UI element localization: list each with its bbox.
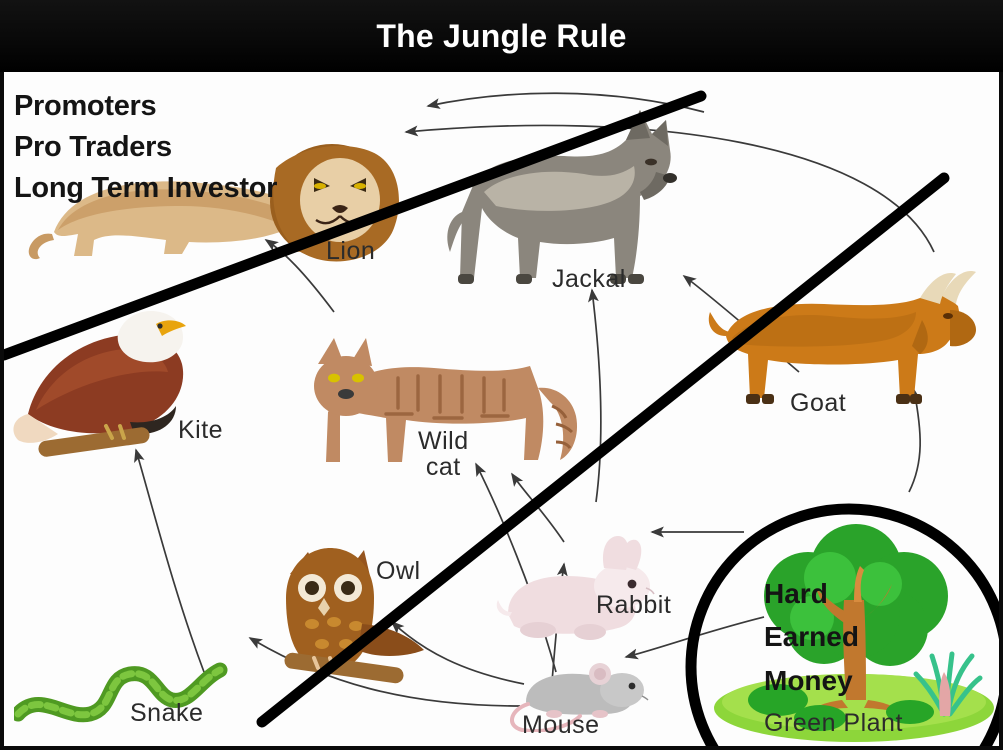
annotation-promoters: Promoters Pro Traders Long Term Investor bbox=[14, 86, 277, 210]
diagram-canvas: Lion Jackal Goat Kite Wild cat Owl Snake… bbox=[4, 72, 999, 746]
slide-root: The Jungle Rule bbox=[0, 0, 1003, 750]
label-green-plant: Green Plant bbox=[764, 710, 903, 736]
label-lion: Lion bbox=[326, 238, 375, 264]
label-jackal: Jackal bbox=[552, 266, 626, 292]
page-title: The Jungle Rule bbox=[376, 18, 626, 55]
label-owl: Owl bbox=[376, 558, 421, 584]
label-mouse: Mouse bbox=[522, 712, 600, 738]
edge-rabbit-jackal bbox=[592, 290, 601, 502]
label-goat: Goat bbox=[790, 390, 846, 416]
label-rabbit: Rabbit bbox=[596, 592, 671, 618]
edge-snake-kite bbox=[136, 450, 204, 672]
title-bar: The Jungle Rule bbox=[0, 0, 1003, 72]
annotation-hard-earned-money: Hard Earned Money bbox=[764, 572, 859, 702]
label-wildcat: Wild cat bbox=[418, 428, 469, 481]
label-kite: Kite bbox=[178, 417, 223, 443]
snake-illustration bbox=[14, 662, 244, 742]
label-snake: Snake bbox=[130, 700, 203, 726]
